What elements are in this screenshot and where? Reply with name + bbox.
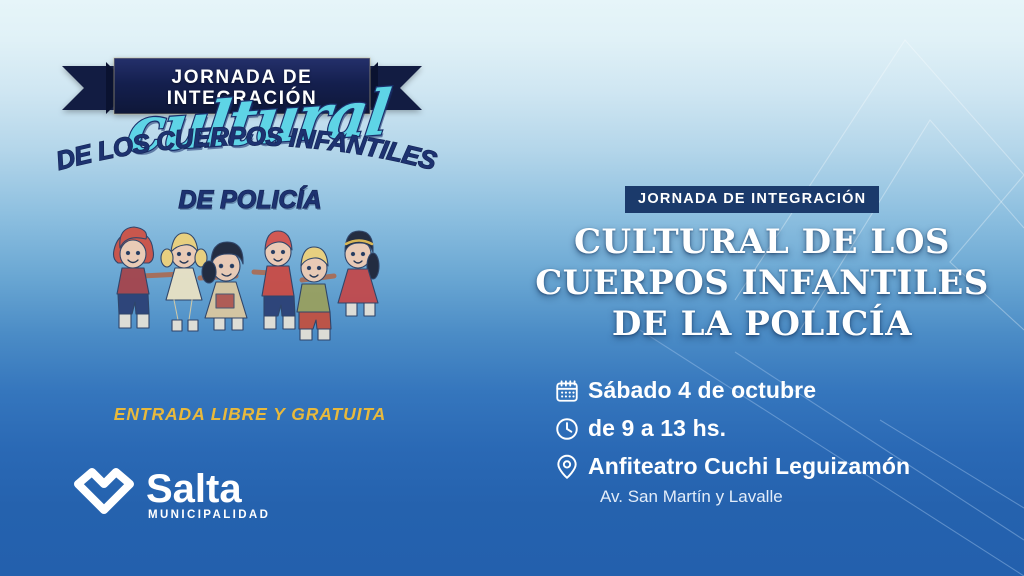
free-entry-note: ENTRADA LIBRE Y GRATUITA [0, 404, 500, 425]
headline-line-3: DE LA POLICÍA [500, 304, 1024, 345]
event-date: Sábado 4 de octubre [588, 377, 816, 404]
detail-row-time: de 9 a 13 hs. [554, 415, 1024, 442]
arc-text-line: DE LOS CUERPOS INFANTILES [53, 121, 441, 176]
event-badge: JORNADA DE INTEGRACIÓN [625, 186, 879, 213]
poster-logo-panel: JORNADA DE INTEGRACIÓN cultural DE LOS C… [0, 0, 500, 576]
event-details: Sábado 4 de octubre de 9 a 13 hs. [554, 377, 1024, 507]
map-pin-icon [554, 454, 588, 480]
calendar-icon [554, 378, 588, 404]
clock-icon [554, 416, 588, 442]
arched-text: DE LOS CUERPOS INFANTILES [46, 126, 446, 188]
poster-info-panel: JORNADA DE INTEGRACIÓN CULTURAL DE LOS C… [500, 0, 1024, 576]
event-venue: Anfiteatro Cuchi Leguizamón [588, 453, 910, 480]
svg-text:MUNICIPALIDAD: MUNICIPALIDAD [148, 509, 270, 521]
detail-row-venue: Anfiteatro Cuchi Leguizamón [554, 453, 1024, 480]
headline-line-2: CUERPOS INFANTILES [500, 263, 1024, 304]
headline-line-1: CULTURAL DE LOS [500, 222, 1024, 263]
salta-municipality-logo: Salta MUNICIPALIDAD [66, 462, 296, 524]
event-address: Av. San Martín y Lavalle [600, 487, 1024, 507]
logo-last-line: DE POLICÍA [0, 186, 500, 215]
heart-icon [78, 472, 130, 510]
event-time: de 9 a 13 hs. [588, 415, 726, 442]
children-holding-hands-illustration [96, 214, 388, 344]
svg-text:DE LOS CUERPOS INFANTILES: DE LOS CUERPOS INFANTILES [53, 121, 441, 176]
svg-text:Salta: Salta [146, 467, 242, 511]
detail-row-date: Sábado 4 de octubre [554, 377, 1024, 404]
event-poster: JORNADA DE INTEGRACIÓN cultural DE LOS C… [0, 0, 1024, 576]
page-title: CULTURAL DE LOS CUERPOS INFANTILES DE LA… [500, 222, 1024, 345]
